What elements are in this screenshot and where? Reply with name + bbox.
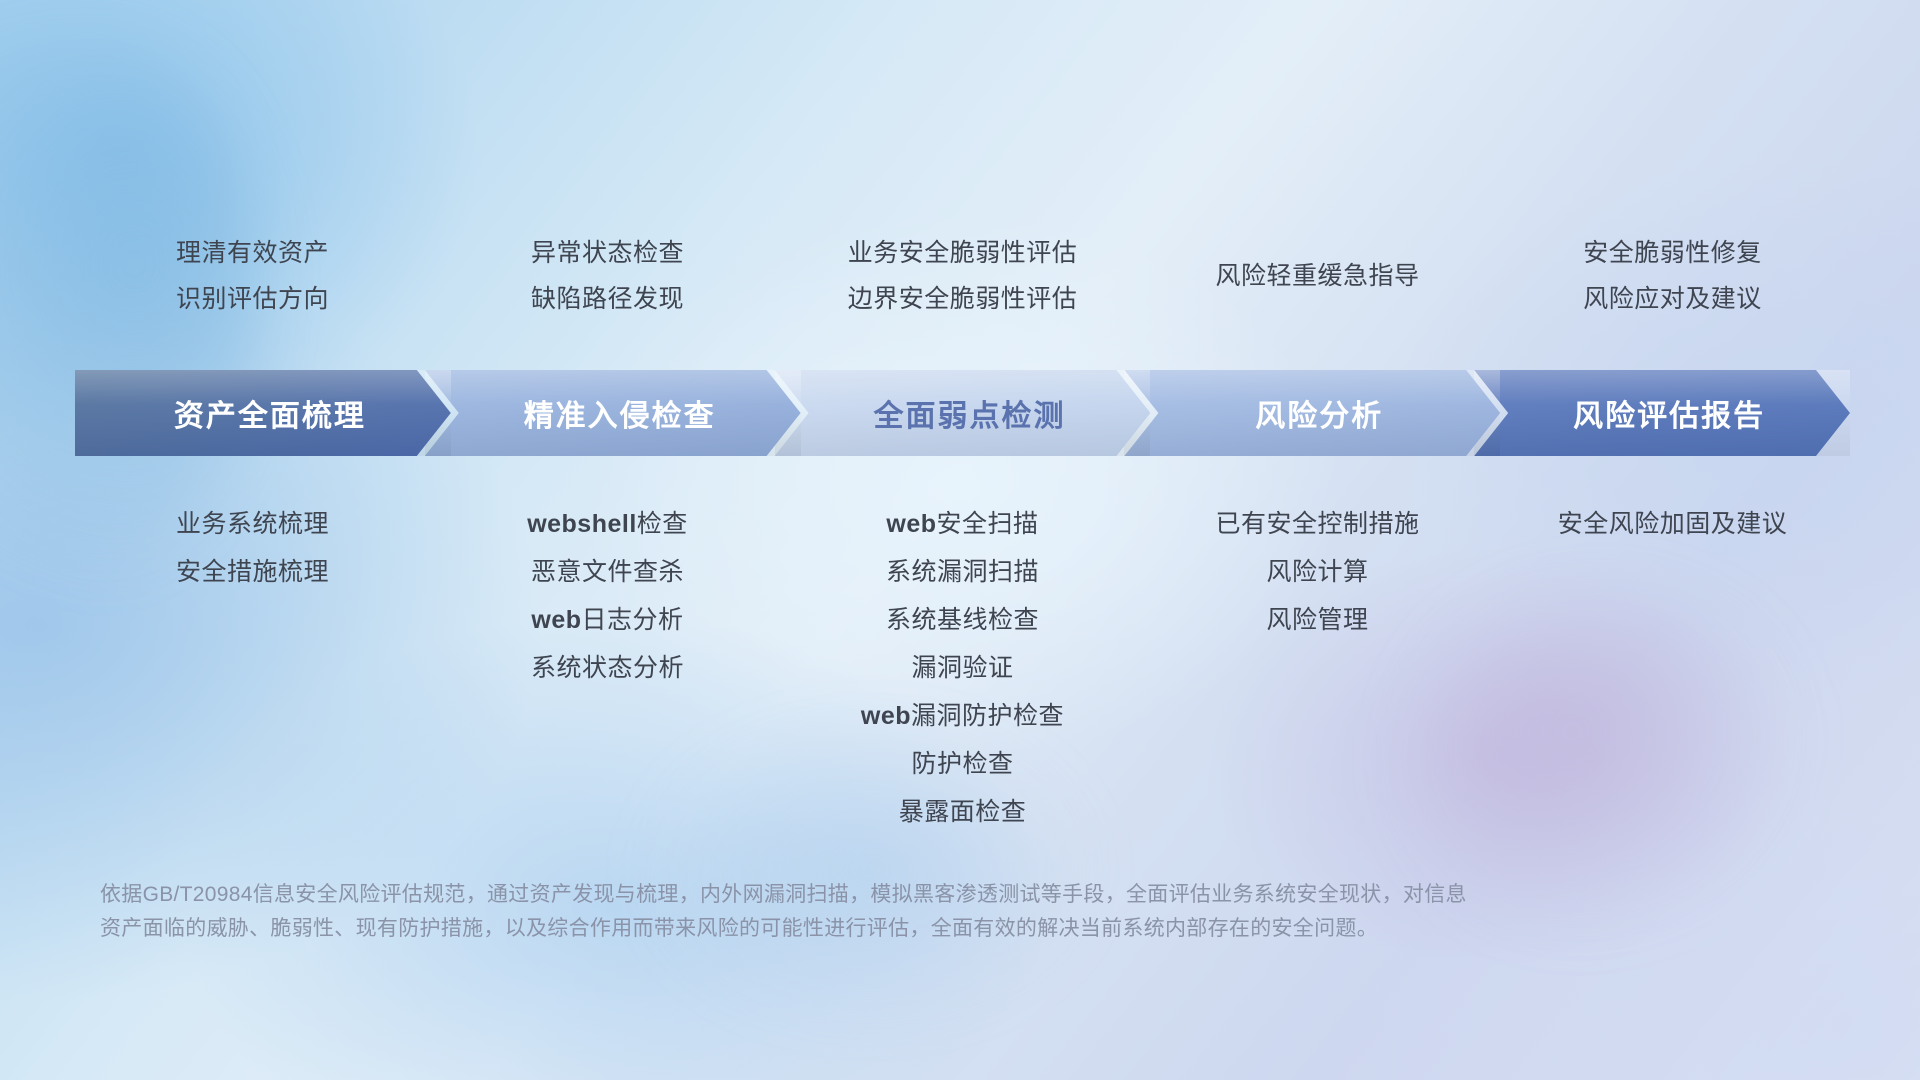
chevron-stage-risk-analysis[interactable]: 风险分析	[1124, 370, 1500, 456]
bottom-labels-row: 业务系统梳理安全措施梳理webshell检查恶意文件查杀web日志分析系统状态分…	[75, 500, 1850, 836]
top-label: 缺陷路径发现	[531, 276, 684, 322]
bottom-label: 业务系统梳理	[176, 500, 329, 548]
bottom-labels-asset-inventory: 业务系统梳理安全措施梳理	[75, 500, 430, 596]
bottom-label: 暴露面检查	[899, 788, 1027, 836]
bottom-label: 恶意文件查杀	[531, 548, 684, 596]
top-label: 业务安全脆弱性评估	[848, 230, 1078, 276]
footer-line-2: 资产面临的威胁、脆弱性、现有防护措施，以及综合作用而带来风险的可能性进行评估，全…	[100, 912, 1620, 946]
chevron-title: 资产全面梳理	[160, 391, 366, 435]
footer-line-1: 依据GB/T20984信息安全风险评估规范，通过资产发现与梳理，内外网漏洞扫描，…	[100, 878, 1620, 912]
bottom-labels-risk-analysis: 已有安全控制措施风险计算风险管理	[1140, 500, 1495, 644]
chevron-stage-weakness-detection[interactable]: 全面弱点检测	[775, 370, 1151, 456]
top-label: 异常状态检查	[531, 230, 684, 276]
top-labels-risk-analysis: 风险轻重缓急指导	[1140, 230, 1495, 350]
bottom-labels-weakness-detection: web安全扫描系统漏洞扫描系统基线检查漏洞验证web漏洞防护检查防护检查暴露面检…	[785, 500, 1140, 836]
bottom-label: 安全风险加固及建议	[1558, 500, 1788, 548]
bottom-label: 风险计算	[1266, 548, 1368, 596]
bottom-label: 系统漏洞扫描	[886, 548, 1039, 596]
top-label: 边界安全脆弱性评估	[848, 276, 1078, 322]
chevron-title: 全面弱点检测	[859, 391, 1065, 435]
bottom-label: 风险管理	[1266, 596, 1368, 644]
top-labels-asset-inventory: 理清有效资产识别评估方向	[75, 230, 430, 350]
top-labels-risk-report: 安全脆弱性修复风险应对及建议	[1495, 230, 1850, 350]
bottom-labels-intrusion-check: webshell检查恶意文件查杀web日志分析系统状态分析	[430, 500, 785, 692]
chevron-title: 精准入侵检查	[510, 391, 716, 435]
bottom-label: webshell检查	[527, 500, 688, 548]
bottom-label: 已有安全控制措施	[1215, 500, 1419, 548]
bottom-label: 系统基线检查	[886, 596, 1039, 644]
chevron-title: 风险分析	[1241, 391, 1383, 435]
chevron-stage-risk-report[interactable]: 风险评估报告	[1474, 370, 1850, 456]
top-label: 风险轻重缓急指导	[1215, 253, 1419, 299]
top-label: 安全脆弱性修复	[1583, 230, 1762, 276]
bottom-label: 防护检查	[911, 740, 1013, 788]
top-label: 理清有效资产	[176, 230, 329, 276]
bottom-label: 安全措施梳理	[176, 548, 329, 596]
top-labels-row: 理清有效资产识别评估方向异常状态检查缺陷路径发现业务安全脆弱性评估边界安全脆弱性…	[75, 230, 1850, 350]
top-label: 识别评估方向	[176, 276, 329, 322]
top-labels-intrusion-check: 异常状态检查缺陷路径发现	[430, 230, 785, 350]
bottom-label: web安全扫描	[886, 500, 1038, 548]
bottom-labels-risk-report: 安全风险加固及建议	[1495, 500, 1850, 548]
bottom-label: web日志分析	[531, 596, 683, 644]
chevron-title: 风险评估报告	[1559, 391, 1765, 435]
top-labels-weakness-detection: 业务安全脆弱性评估边界安全脆弱性评估	[785, 230, 1140, 350]
process-diagram: 理清有效资产识别评估方向异常状态检查缺陷路径发现业务安全脆弱性评估边界安全脆弱性…	[0, 0, 1920, 1080]
top-label: 风险应对及建议	[1583, 276, 1762, 322]
bottom-label: 漏洞验证	[911, 644, 1013, 692]
bottom-label: web漏洞防护检查	[861, 692, 1064, 740]
chevron-process-bar: 资产全面梳理精准入侵检查全面弱点检测风险分析风险评估报告	[75, 370, 1850, 456]
chevron-stage-asset-inventory[interactable]: 资产全面梳理	[75, 370, 451, 456]
bottom-label: 系统状态分析	[531, 644, 684, 692]
footer-description: 依据GB/T20984信息安全风险评估规范，通过资产发现与梳理，内外网漏洞扫描，…	[100, 878, 1620, 946]
chevron-stage-intrusion-check[interactable]: 精准入侵检查	[425, 370, 801, 456]
